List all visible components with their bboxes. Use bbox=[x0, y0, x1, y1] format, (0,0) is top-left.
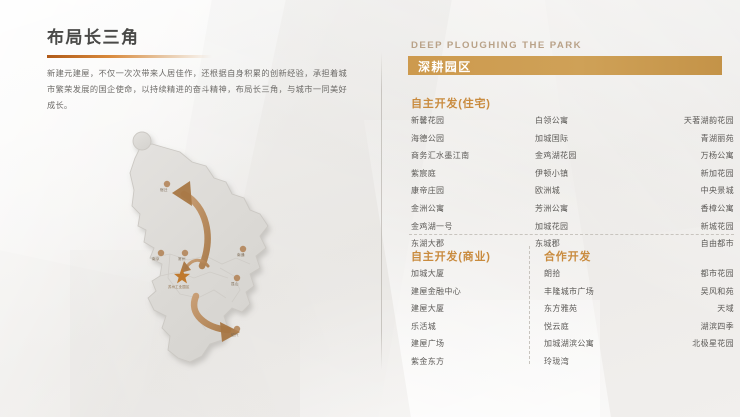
project-item: 吴风和苑 bbox=[633, 288, 734, 296]
project-item: 中央景城 bbox=[633, 187, 734, 195]
project-item: 朗拾 bbox=[544, 270, 594, 278]
section-eyebrow-english: DEEP PLOUGHING THE PARK bbox=[411, 40, 582, 51]
project-item: 白领公寓 bbox=[535, 117, 577, 125]
project-item: 紫金东方 bbox=[411, 358, 461, 366]
page-title: 布局长三角 bbox=[47, 29, 140, 46]
project-item: 新城花园 bbox=[633, 223, 734, 231]
project-item: 金鸡湖花园 bbox=[535, 152, 577, 160]
project-item: 乐活城 bbox=[411, 323, 461, 331]
project-item: 北极星花园 bbox=[633, 340, 734, 348]
cooperative-column-2: 都市花园吴风和苑天域湖滨四季北极星花园 bbox=[633, 270, 734, 348]
project-item: 建屋金融中心 bbox=[411, 288, 461, 296]
project-item: 加城国际 bbox=[535, 135, 577, 143]
project-item: 金洲公寓 bbox=[411, 205, 469, 213]
map-landmass bbox=[130, 132, 268, 362]
panel-divider bbox=[381, 52, 382, 370]
project-item: 加城花园 bbox=[535, 223, 577, 231]
map-highlight-label: 苏州工业园区 bbox=[168, 284, 190, 289]
project-item: 伊顿小镇 bbox=[535, 170, 577, 178]
residential-column-3: 天著湖韵花园青湖丽苑万杨公寓新加花园中央景城香樟公寓新城花园自由都市 bbox=[633, 117, 734, 248]
map-city-label: 宿迁 bbox=[160, 188, 168, 193]
project-item: 紫宸庭 bbox=[411, 170, 469, 178]
section-heading-residential: 自主开发(住宅) bbox=[411, 95, 491, 111]
right-panel: DEEP PLOUGHING THE PARK 深耕园区 自主开发(住宅) 新馨… bbox=[394, 0, 740, 417]
map-city-label: 昆山 bbox=[231, 282, 239, 287]
project-item: 芳洲公寓 bbox=[535, 205, 577, 213]
project-item: 天域 bbox=[633, 305, 734, 313]
intro-paragraph: 新建元建屋，不仅一次次带来人居佳作，还根据自身积累的创新经验，承担着城市繁荣发展… bbox=[47, 66, 347, 114]
project-item: 玲珑湾 bbox=[544, 358, 594, 366]
project-item: 新加花园 bbox=[633, 170, 734, 178]
project-item: 欧洲城 bbox=[535, 187, 577, 195]
project-item: 海德公园 bbox=[411, 135, 469, 143]
cooperative-column-1: 朗拾丰隆城市广场东方雅苑悦云庭加城湖滨公寓玲珑湾 bbox=[544, 270, 594, 366]
project-item: 商务汇水墨江南 bbox=[411, 152, 469, 160]
project-item: 湖滨四季 bbox=[633, 323, 734, 331]
project-item: 青湖丽苑 bbox=[633, 135, 734, 143]
commercial-column-1: 加城大厦建屋金融中心建屋大厦乐活城建屋广场紫金东方 bbox=[411, 270, 461, 366]
project-item: 自由都市 bbox=[633, 240, 734, 248]
map-city-label: 南京 bbox=[152, 257, 160, 262]
section-heading-cooperative: 合作开发 bbox=[544, 248, 591, 264]
section-divider-horizontal bbox=[409, 234, 734, 235]
section-divider-vertical bbox=[529, 246, 530, 364]
left-panel: 布局长三角 新建元建屋，不仅一次次带来人居佳作，还根据自身积累的创新经验，承担着… bbox=[0, 0, 394, 417]
residential-column-1: 新馨花园海德公园商务汇水墨江南紫宸庭康帝庄园金洲公寓金鸡湖一号东湖大郡 bbox=[411, 117, 469, 248]
section-heading-commercial: 自主开发(商业) bbox=[411, 248, 491, 264]
slide-canvas: 布局长三角 新建元建屋，不仅一次次带来人居佳作，还根据自身积累的创新经验，承担着… bbox=[0, 0, 740, 417]
project-item: 东湖大郡 bbox=[411, 240, 469, 248]
project-item: 东方雅苑 bbox=[544, 305, 594, 313]
map-city-label: 绍兴 bbox=[231, 333, 239, 338]
project-item: 建屋大厦 bbox=[411, 305, 461, 313]
project-item: 康帝庄园 bbox=[411, 187, 469, 195]
residential-column-2: 白领公寓加城国际金鸡湖花园伊顿小镇欧洲城芳洲公寓加城花园东城郡 bbox=[535, 117, 577, 248]
project-item: 丰隆城市广场 bbox=[544, 288, 594, 296]
project-item: 新馨花园 bbox=[411, 117, 469, 125]
project-item: 都市花园 bbox=[633, 270, 734, 278]
project-item: 天著湖韵花园 bbox=[633, 117, 734, 125]
project-item: 悦云庭 bbox=[544, 323, 594, 331]
project-item: 金鸡湖一号 bbox=[411, 223, 469, 231]
map-city-label: 常州 bbox=[178, 257, 186, 262]
project-item: 加城湖滨公寓 bbox=[544, 340, 594, 348]
project-item: 加城大厦 bbox=[411, 270, 461, 278]
project-item: 东城郡 bbox=[535, 240, 577, 248]
title-underline-rule bbox=[47, 55, 212, 58]
section-header-title: 深耕园区 bbox=[418, 58, 472, 75]
project-item: 香樟公寓 bbox=[633, 205, 734, 213]
project-item: 建屋广场 bbox=[411, 340, 461, 348]
project-item: 万杨公寓 bbox=[633, 152, 734, 160]
map-city-label: 南通 bbox=[237, 253, 245, 258]
yangtze-river-delta-map: 宿迁 南京 常州 南通 昆山 绍兴 苏州工业园区 bbox=[110, 118, 325, 378]
